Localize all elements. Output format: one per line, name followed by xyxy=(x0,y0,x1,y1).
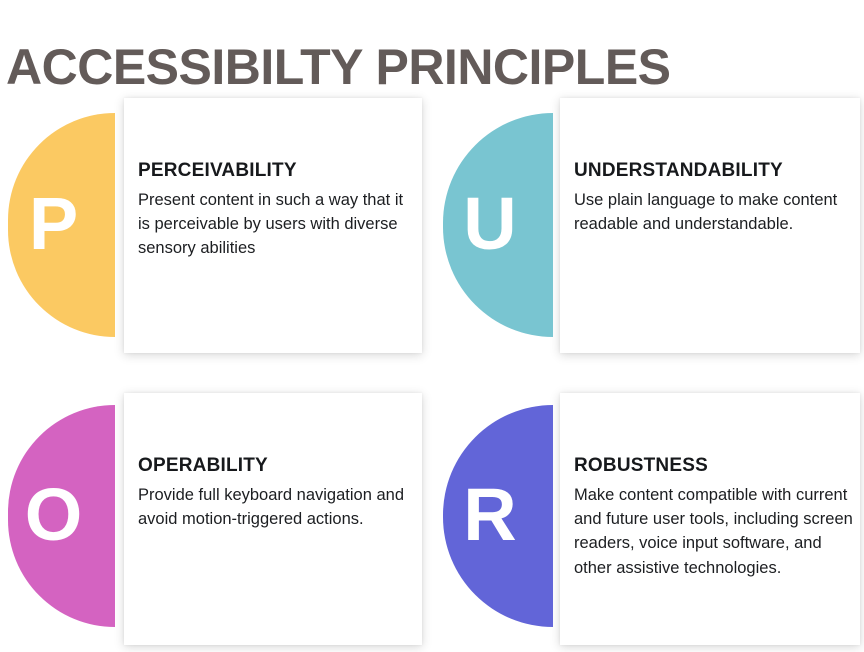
badge-letter: U xyxy=(463,187,516,261)
badge-p: P xyxy=(8,113,115,337)
card-body: Provide full keyboard navigation and avo… xyxy=(138,483,406,532)
card-heading: OPERABILITY xyxy=(138,455,406,477)
card-heading: UNDERSTANDABILITY xyxy=(574,160,854,182)
badge-letter: O xyxy=(25,478,83,552)
card-text-block: ROBUSTNESS Make content compatible with … xyxy=(574,455,860,580)
card-body: Use plain language to make content reada… xyxy=(574,188,854,237)
badge-r: R xyxy=(443,405,553,627)
card-text-block: OPERABILITY Provide full keyboard naviga… xyxy=(138,455,406,531)
card-body: Make content compatible with current and… xyxy=(574,483,860,580)
badge-letter: R xyxy=(463,478,516,552)
badge-o: O xyxy=(8,405,115,627)
badge-letter: P xyxy=(29,187,78,261)
card-heading: PERCEIVABILITY xyxy=(138,160,406,182)
card-heading: ROBUSTNESS xyxy=(574,455,860,477)
card-text-block: UNDERSTANDABILITY Use plain language to … xyxy=(574,160,854,236)
accessibility-principles-infographic: ACCESSIBILTY PRINCIPLES P PERCEIVABILITY… xyxy=(0,0,864,652)
card-text-block: PERCEIVABILITY Present content in such a… xyxy=(138,160,406,261)
page-title: ACCESSIBILTY PRINCIPLES xyxy=(6,36,856,98)
card-body: Present content in such a way that it is… xyxy=(138,188,406,261)
badge-u: U xyxy=(443,113,553,337)
